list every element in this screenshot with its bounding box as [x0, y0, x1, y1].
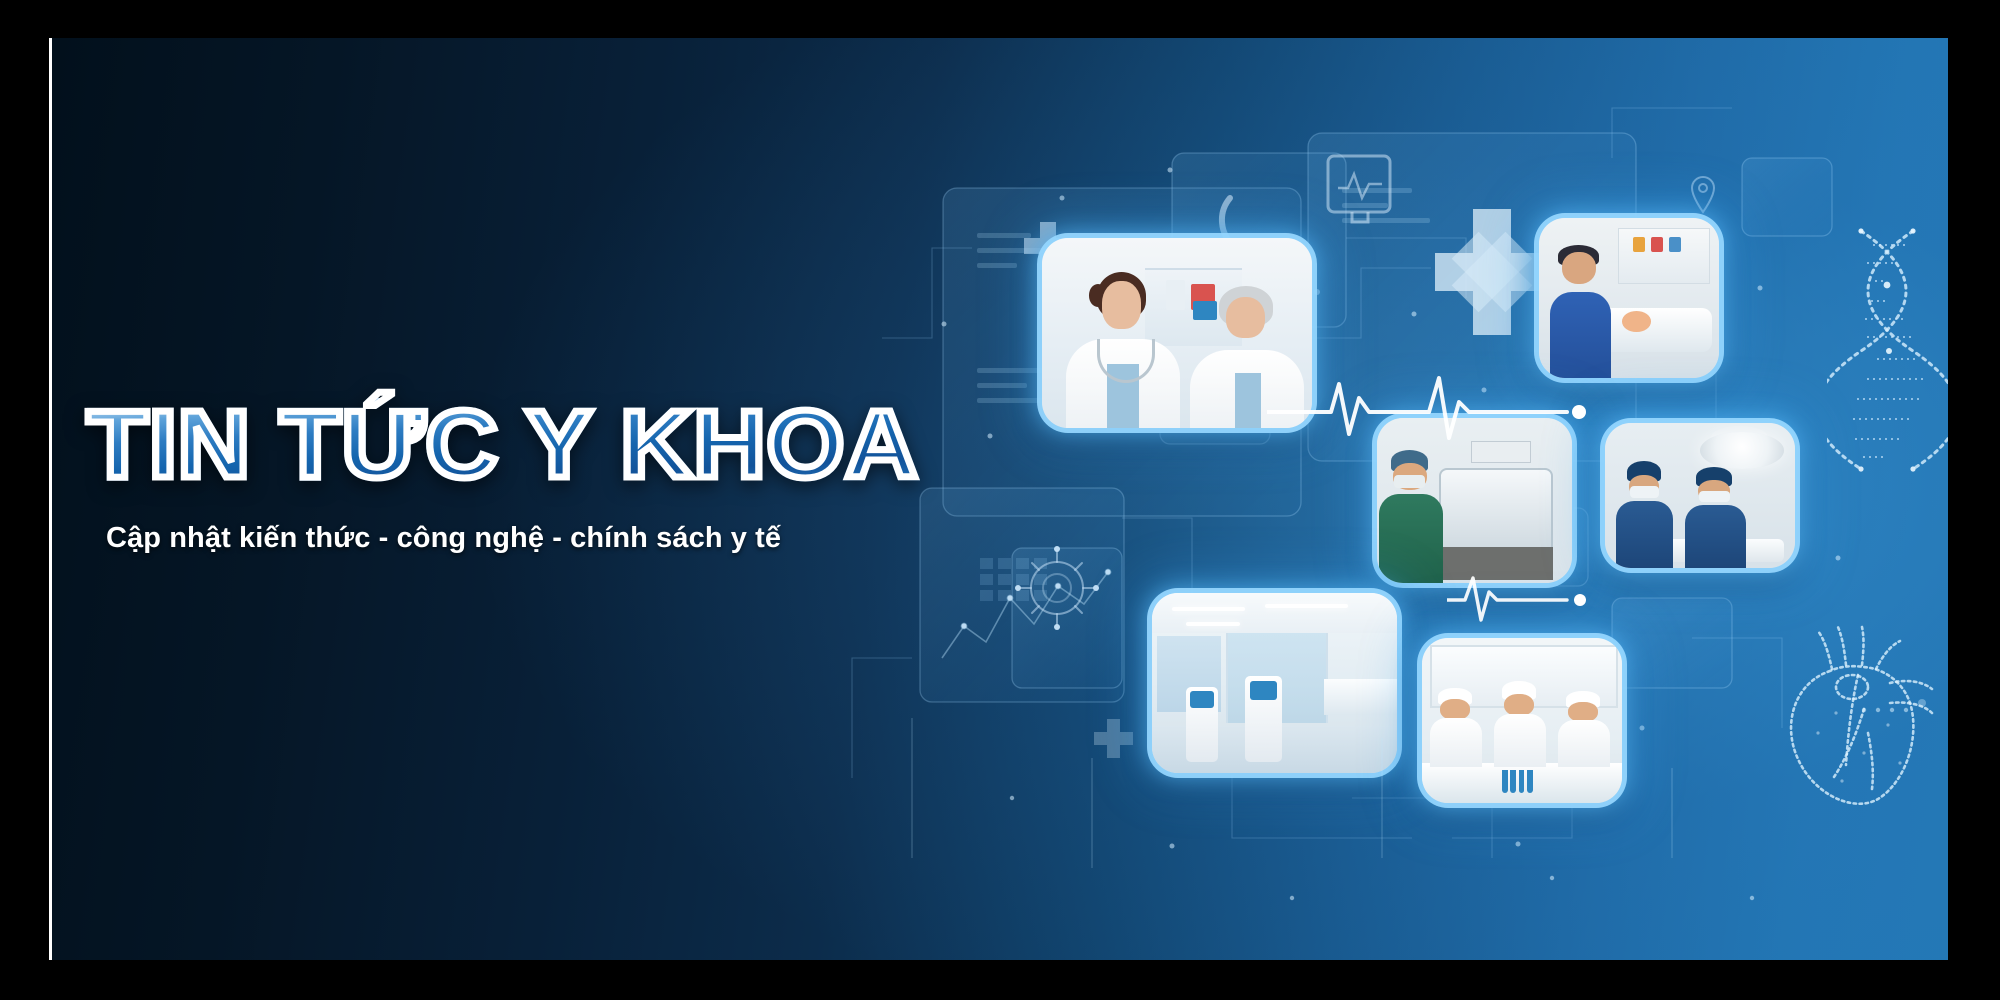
collage-photo-doctors[interactable] — [1042, 238, 1312, 428]
page-subtitle: Cập nhật kiến thức - công nghệ - chính s… — [106, 522, 987, 555]
collage-photo-lab[interactable] — [1422, 638, 1622, 803]
collage-photo-nicu[interactable] — [1539, 218, 1719, 378]
hero-text-block: TIN TỨC Y KHOA Cập nhật kiến thức - công… — [87, 398, 987, 555]
collage-photo-incubator[interactable] — [1377, 418, 1572, 583]
left-frame-rule — [49, 38, 52, 960]
page-title: TIN TỨC Y KHOA — [87, 398, 1023, 492]
banner-artwork: TIN TỨC Y KHOA Cập nhật kiến thức - công… — [52, 38, 1948, 960]
collage-photo-lobby[interactable] — [1152, 593, 1397, 773]
collage-photo-surgery[interactable] — [1605, 423, 1795, 568]
banner-root: TIN TỨC Y KHOA Cập nhật kiến thức - công… — [0, 0, 2000, 1000]
